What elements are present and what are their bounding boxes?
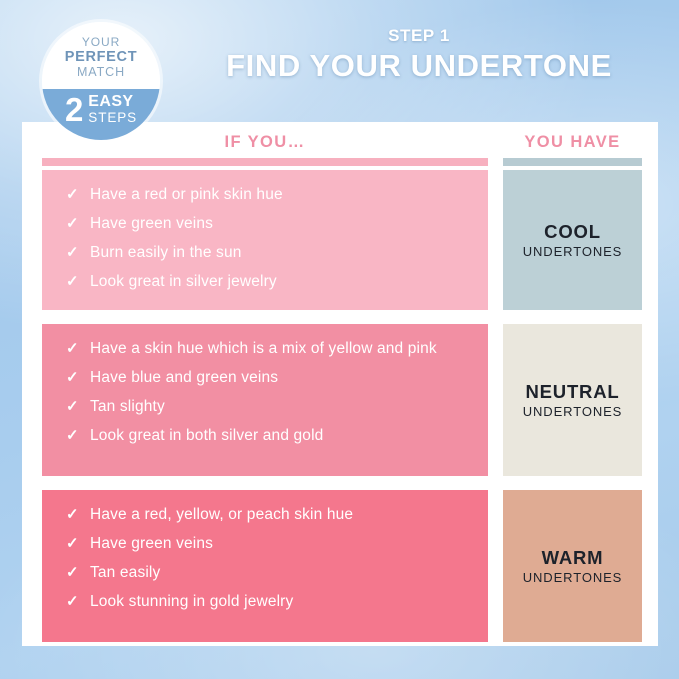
list-item: ✓ Tan easily — [64, 561, 470, 585]
criteria-block-neutral: ✓ Have a skin hue which is a mix of yell… — [42, 324, 488, 476]
list-item: ✓ Have blue and green veins — [64, 366, 470, 390]
poster-header: STEP 1 FIND YOUR UNDERTONE — [176, 26, 662, 84]
undertone-subtitle: UNDERTONES — [523, 404, 623, 420]
criteria-text: Burn easily in the sun — [90, 241, 242, 264]
column-header-you-have-label: YOU HAVE — [503, 132, 642, 152]
list-item: ✓ Burn easily in the sun — [64, 241, 470, 265]
undertone-row-warm: ✓ Have a red, yellow, or peach skin hue … — [42, 490, 642, 642]
undertone-swatch-warm: WARM UNDERTONES — [503, 490, 642, 642]
undertone-row-cool: ✓ Have a red or pink skin hue ✓ Have gre… — [42, 170, 642, 310]
check-icon: ✓ — [64, 183, 90, 207]
check-icon: ✓ — [64, 503, 90, 527]
criteria-text: Tan slighty — [90, 395, 165, 418]
page-title: FIND YOUR UNDERTONE — [176, 48, 662, 84]
check-icon: ✓ — [64, 561, 90, 585]
check-icon: ✓ — [64, 590, 90, 614]
badge-line-your: YOUR — [82, 35, 120, 49]
badge-word-easy: EASY — [88, 93, 133, 110]
check-icon: ✓ — [64, 366, 90, 390]
check-icon: ✓ — [64, 241, 90, 265]
criteria-text: Tan easily — [90, 561, 160, 584]
list-item: ✓ Have a skin hue which is a mix of yell… — [64, 337, 470, 361]
criteria-text: Have a skin hue which is a mix of yellow… — [90, 337, 437, 360]
list-item: ✓ Have a red, yellow, or peach skin hue — [64, 503, 470, 527]
criteria-text: Look great in silver jewelry — [90, 270, 277, 293]
column-header-if-you-rule — [42, 158, 488, 166]
criteria-text: Have green veins — [90, 532, 213, 555]
check-icon: ✓ — [64, 212, 90, 236]
list-item: ✓ Look great in silver jewelry — [64, 270, 470, 294]
undertone-name: COOL — [544, 221, 601, 243]
list-item: ✓ Have green veins — [64, 212, 470, 236]
list-item: ✓ Tan slighty — [64, 395, 470, 419]
badge-steps-words: EASY STEPS — [88, 91, 137, 125]
list-item: ✓ Look stunning in gold jewelry — [64, 590, 470, 614]
column-header-you-have-rule — [503, 158, 642, 166]
undertone-subtitle: UNDERTONES — [523, 244, 623, 260]
check-icon: ✓ — [64, 532, 90, 556]
badge-bottom-half: 2 EASY STEPS — [42, 89, 160, 140]
criteria-text: Look stunning in gold jewelry — [90, 590, 293, 613]
infographic-poster: YOUR PERFECT MATCH 2 EASY STEPS STEP 1 F… — [0, 0, 679, 679]
criteria-text: Have a red or pink skin hue — [90, 183, 283, 206]
list-item: ✓ Have a red or pink skin hue — [64, 183, 470, 207]
badge-step-count: 2 — [65, 91, 83, 128]
list-item: ✓ Have green veins — [64, 532, 470, 556]
badge-line-match: MATCH — [77, 65, 125, 80]
criteria-text: Look great in both silver and gold — [90, 424, 323, 447]
criteria-block-cool: ✓ Have a red or pink skin hue ✓ Have gre… — [42, 170, 488, 310]
badge-top-half: YOUR PERFECT MATCH — [42, 22, 160, 89]
perfect-match-badge: YOUR PERFECT MATCH 2 EASY STEPS — [42, 22, 160, 140]
list-item: ✓ Look great in both silver and gold — [64, 424, 470, 448]
step-label: STEP 1 — [176, 26, 662, 46]
undertone-name: WARM — [542, 547, 604, 569]
undertone-swatch-neutral: NEUTRAL UNDERTONES — [503, 324, 642, 476]
check-icon: ✓ — [64, 337, 90, 361]
check-icon: ✓ — [64, 395, 90, 419]
badge-word-steps: STEPS — [88, 110, 137, 125]
criteria-text: Have blue and green veins — [90, 366, 278, 389]
criteria-block-warm: ✓ Have a red, yellow, or peach skin hue … — [42, 490, 488, 642]
undertone-row-neutral: ✓ Have a skin hue which is a mix of yell… — [42, 324, 642, 476]
undertone-swatch-cool: COOL UNDERTONES — [503, 170, 642, 310]
criteria-text: Have a red, yellow, or peach skin hue — [90, 503, 353, 526]
undertone-subtitle: UNDERTONES — [523, 570, 623, 586]
badge-steps-row: 2 EASY STEPS — [65, 91, 137, 128]
criteria-text: Have green veins — [90, 212, 213, 235]
undertone-name: NEUTRAL — [526, 381, 620, 403]
badge-line-perfect: PERFECT — [65, 49, 138, 65]
check-icon: ✓ — [64, 270, 90, 294]
column-header-you-have: YOU HAVE — [503, 132, 642, 166]
content-card: IF YOU… YOU HAVE ✓ Have a red or pink sk… — [22, 122, 658, 646]
check-icon: ✓ — [64, 424, 90, 448]
